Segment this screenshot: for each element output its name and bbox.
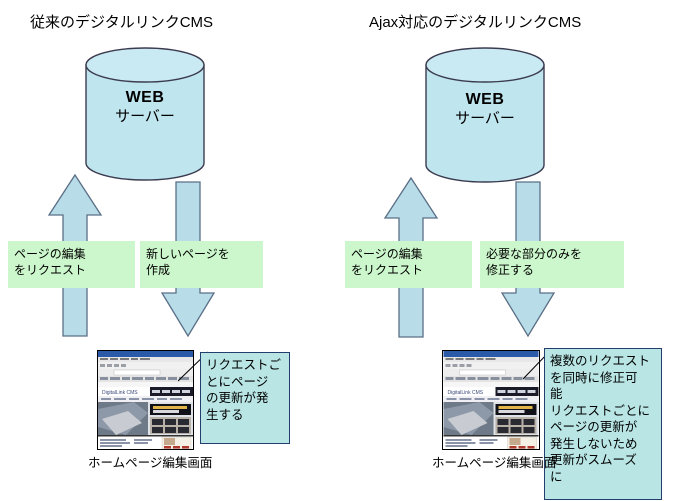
web-server-cylinder-right [425,47,545,181]
callout-left: リクエストご とにページ の更新が発 生する [200,352,290,444]
panel-ajax-cms: Ajax対応のデジタルリンクCMS WEB サーバー ページの編集 をリクエスト… [337,0,674,501]
svg-text:DigitalLink CMS: DigitalLink CMS [102,390,138,396]
caption-right: ホームページ編集画面 [432,455,556,471]
web-server-cylinder-left [85,47,205,181]
left-panel-title: 従来のデジタルリンクCMS [30,14,213,32]
label-request-edit-right: ページの編集 をリクエスト [345,241,472,288]
caption-left: ホームページ編集画面 [88,455,212,471]
label-partial-update-right: 必要な部分のみを 修正する [480,241,624,288]
panel-conventional-cms: 従来のデジタルリンクCMS WEB サーバー ページの編集 をリクエスト 新しい… [0,0,337,501]
right-panel-title: Ajax対応のデジタルリンクCMS [369,14,581,32]
label-request-edit-left: ページの編集 をリクエスト [8,241,135,288]
label-create-new-page-left: 新しいページを 作成 [140,241,263,288]
callout-right: 複数のリクエスト を同時に修正可 能 リクエストごとに ページの更新が 発生しな… [544,348,662,500]
svg-text:DigitalLink CMS: DigitalLink CMS [448,390,484,396]
